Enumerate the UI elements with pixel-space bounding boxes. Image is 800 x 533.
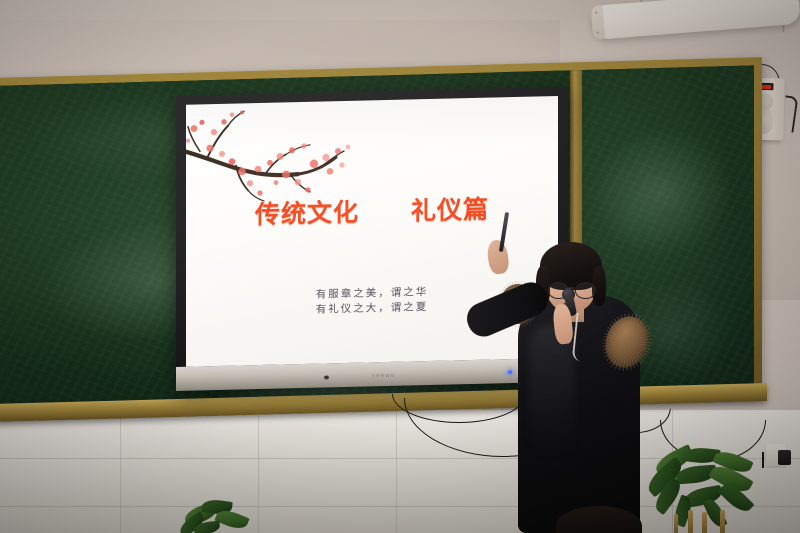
- glasses-lens-right: [575, 282, 596, 299]
- power-plug[interactable]: [778, 450, 791, 465]
- display-brand-label: seewo: [372, 373, 395, 380]
- presenter-coat-highlight: [530, 324, 574, 514]
- plant-left: [176, 486, 266, 533]
- light-screw: [595, 12, 597, 14]
- presenter-hand-raised: [486, 239, 511, 275]
- lanyard-strap: [572, 313, 601, 363]
- light-end-cap: [591, 5, 606, 40]
- classroom-scene: 传统文化 礼仪篇 有服章之美，谓之华 有礼仪之大，谓之夏 seewo: [0, 0, 800, 533]
- ir-sensor: [324, 375, 329, 379]
- light-screw: [597, 32, 599, 34]
- plant-right: [640, 448, 770, 533]
- tile-grout-line: [120, 410, 121, 533]
- tile-grout-line: [396, 410, 397, 533]
